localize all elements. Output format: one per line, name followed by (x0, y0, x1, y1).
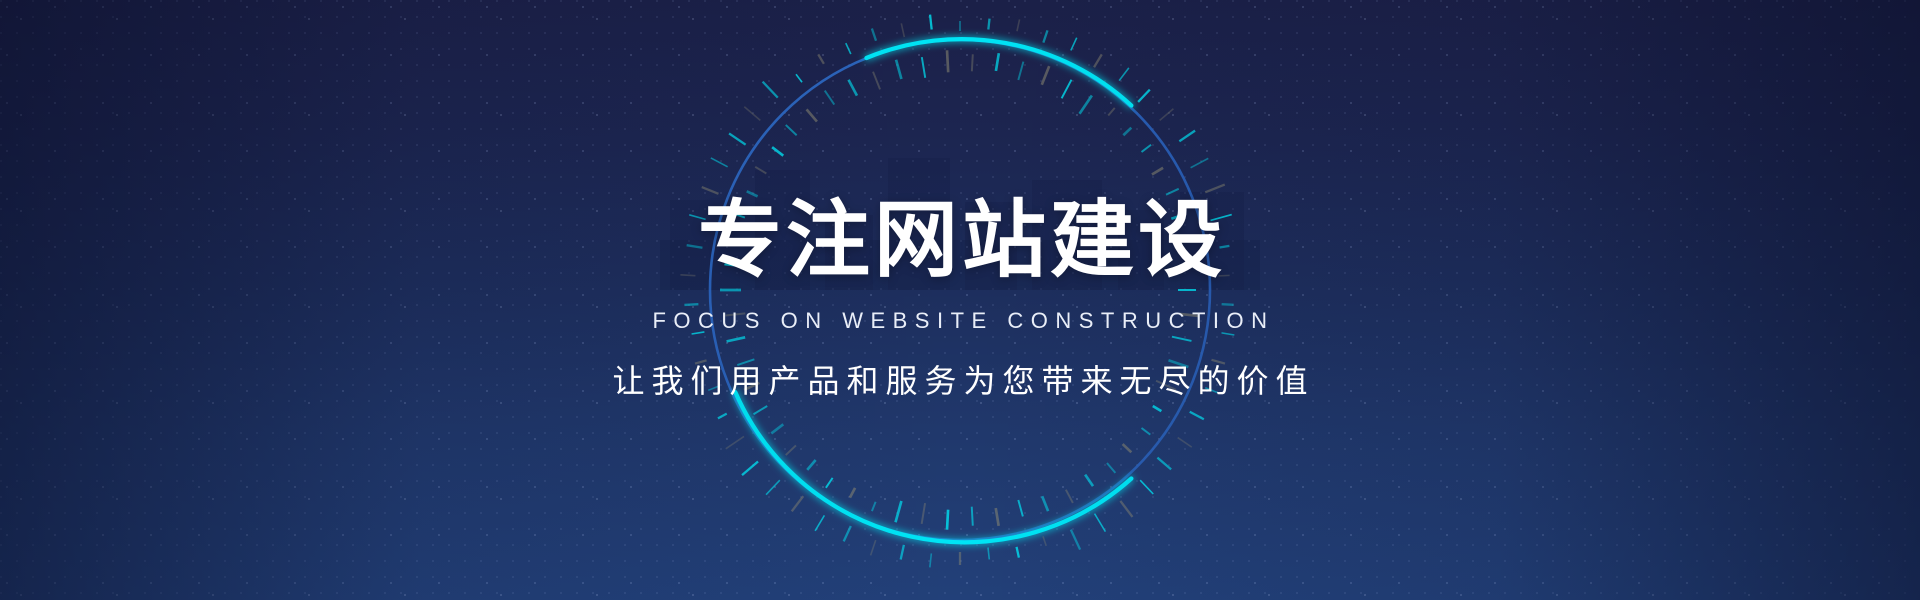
subtitle-english: FOCUS ON WEBSITE CONSTRUCTION (645, 308, 1274, 334)
page-title: 专注网站建设 (694, 198, 1226, 282)
hero-content: 专注网站建设 FOCUS ON WEBSITE CONSTRUCTION 让我们… (0, 0, 1920, 600)
banner-hero: 专注网站建设 FOCUS ON WEBSITE CONSTRUCTION 让我们… (0, 0, 1920, 600)
subtitle-chinese: 让我们用产品和服务为您带来无尽的价值 (605, 356, 1314, 402)
